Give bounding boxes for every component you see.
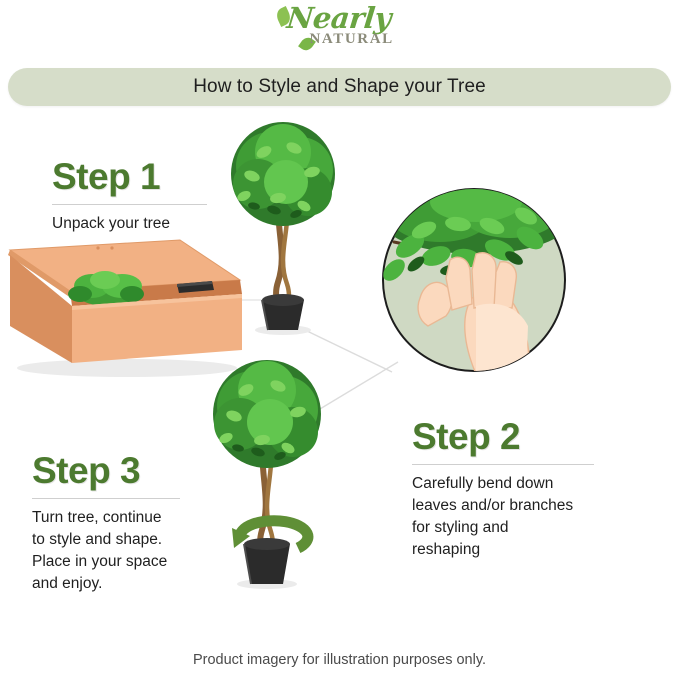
header-banner: How to Style and Shape your Tree <box>8 68 671 106</box>
brand-script-text: Nearly <box>285 4 392 33</box>
page-title: How to Style and Shape your Tree <box>193 76 486 98</box>
step-1-heading: Step 1 <box>52 158 212 195</box>
step-3-heading: Step 3 <box>32 452 232 489</box>
brand-logo: Nearly NATURAL <box>0 4 679 56</box>
step-2-body: Carefully bend down leaves and/or branch… <box>412 473 622 561</box>
canopy <box>231 122 335 226</box>
brand-word-text: NATURAL <box>310 32 394 47</box>
step-1-body: Unpack your tree <box>52 213 212 235</box>
step-2-block: Step 2 Carefully bend down leaves and/or… <box>412 418 622 561</box>
hand-shaping-inset <box>380 186 568 374</box>
logo-wrap: Nearly NATURAL <box>275 6 405 54</box>
plant-pot <box>237 538 297 589</box>
step-3-block: Step 3 Turn tree, continue to style and … <box>32 452 232 595</box>
plant-pot <box>255 294 311 335</box>
step-1-divider <box>52 204 207 205</box>
step-3-body: Turn tree, continue to style and shape. … <box>32 507 232 595</box>
tree-illustration-top <box>208 122 358 337</box>
step-2-heading: Step 2 <box>412 418 622 455</box>
footer-note: Product imagery for illustration purpose… <box>0 652 679 668</box>
step-3-divider <box>32 498 180 499</box>
step-2-divider <box>412 464 594 465</box>
step-1-block: Step 1 Unpack your tree <box>52 158 212 235</box>
